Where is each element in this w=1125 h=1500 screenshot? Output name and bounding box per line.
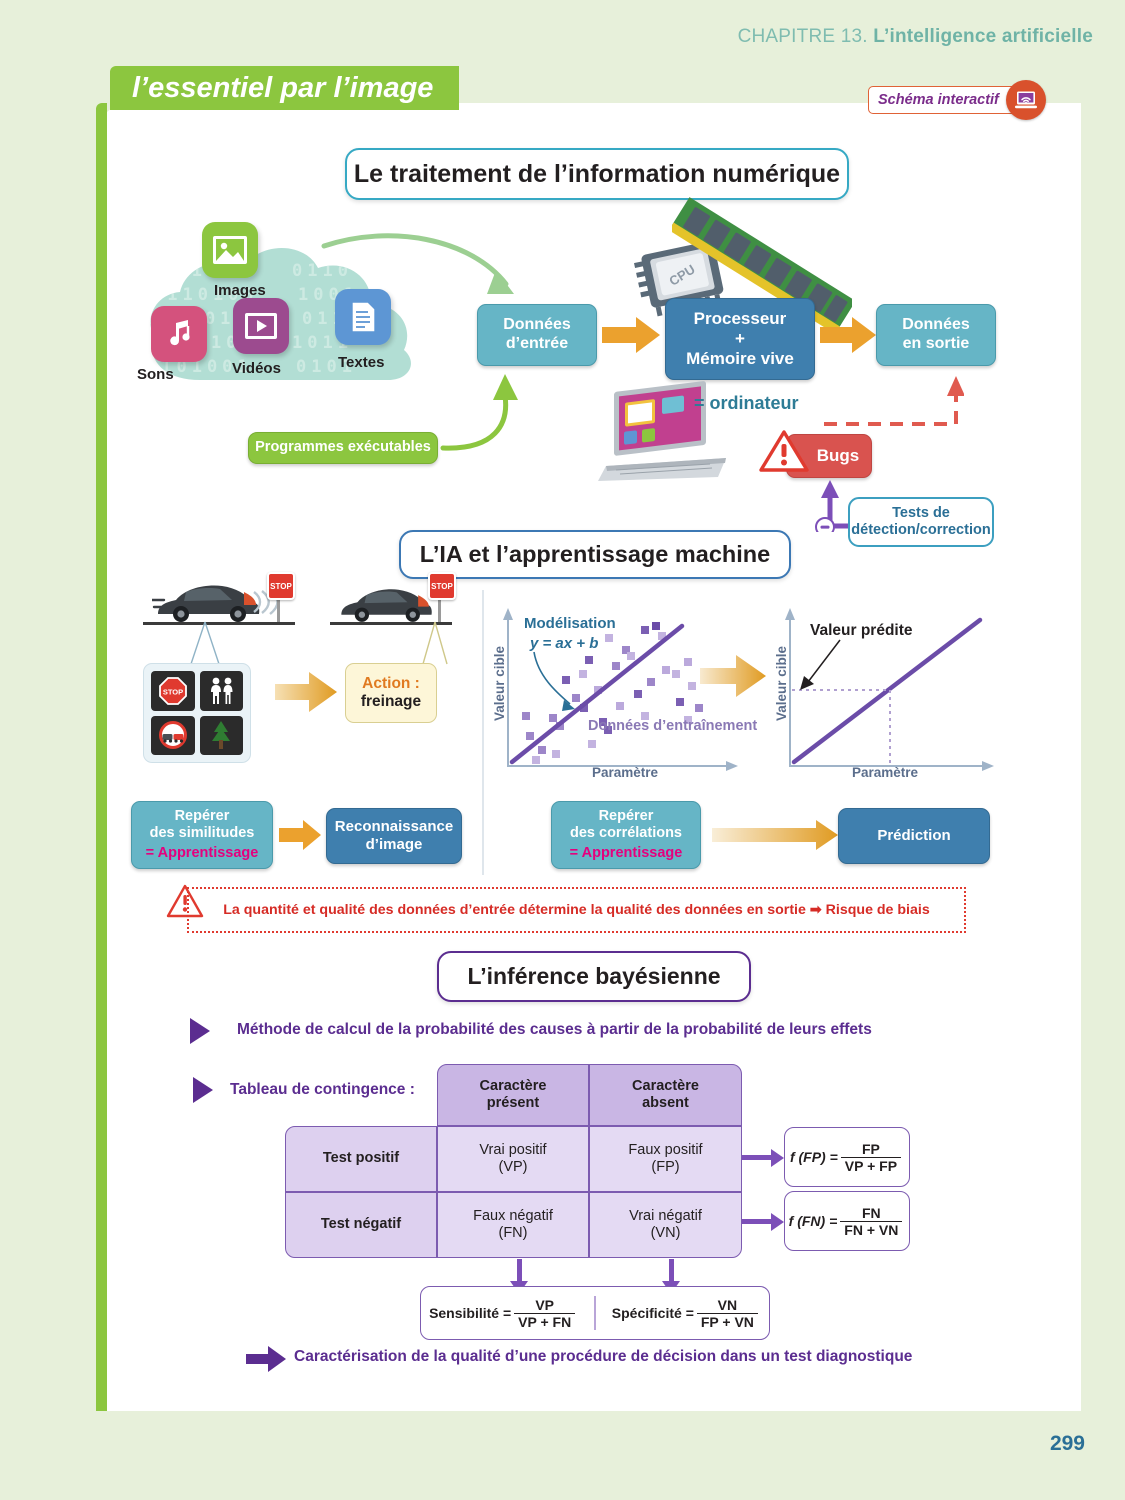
table-cell-vp: Vrai positif (VP)	[437, 1126, 589, 1192]
apprentissage-highlight-1: = Apprentissage	[146, 845, 259, 862]
orange-arrow-1	[602, 317, 660, 353]
chart1-title: Modélisation	[524, 614, 616, 634]
formula-f-fn-den: FN + VN	[840, 1221, 902, 1238]
formula-f-fp-lhs: f (FP) =	[790, 1149, 838, 1165]
section-title-ia: L’IA et l’apprentissage machine	[399, 530, 791, 579]
essentiel-banner: l’essentiel par l’image	[110, 66, 459, 110]
formula-f-fn-fraction: FN FN + VN	[840, 1205, 902, 1238]
bugs-feedback-dashed-arrow	[816, 368, 964, 430]
orange-arrow-4	[712, 820, 838, 850]
section2-divider	[482, 590, 484, 875]
formula-f-fn: f (FN) = FN FN + VN	[784, 1191, 910, 1251]
programmes-label: Programmes exécutables	[255, 439, 431, 456]
formula-f-fn-lhs: f (FN) =	[789, 1213, 838, 1229]
formula-f-fp-fraction: FP VP + FP	[841, 1141, 901, 1174]
table-col-header-1: Caractère présent	[437, 1064, 589, 1126]
bullet-triangle-1	[190, 1018, 210, 1044]
donnees-sortie-box: Données en sortie	[876, 304, 996, 366]
prediction-label: Prédiction	[877, 827, 950, 845]
apprentissage-highlight-2: = Apprentissage	[570, 845, 683, 862]
table-to-ffp-arrow-head	[771, 1149, 784, 1167]
conclusion-arrow-icon	[246, 1346, 286, 1372]
bullet-triangle-2	[193, 1077, 213, 1103]
chapter-header: CHAPITRE 13. L’intelligence artificielle	[738, 26, 1093, 48]
chart1-xlabel: Paramètre	[592, 765, 658, 780]
table-to-ffp-arrow-line	[742, 1155, 772, 1160]
warning-triangle-icon	[758, 428, 810, 474]
formula-sensibilite-den: VP + FN	[514, 1313, 575, 1330]
schema-interactif-badge[interactable]: Schéma interactif	[868, 80, 1046, 120]
orange-arrow-2	[820, 317, 876, 353]
stop-sign-icon: STOP	[151, 671, 195, 711]
formula-sensibilite-num: VP	[531, 1297, 558, 1313]
contingency-table: Caractère présent Caractère absent Test …	[285, 1064, 742, 1259]
tests-label: Tests de détection/correction	[851, 505, 990, 540]
leader-lines	[143, 620, 463, 668]
bugs-label: Bugs	[817, 446, 860, 466]
col1-down-arrow-line	[517, 1259, 522, 1283]
orange-arrow-3	[279, 820, 321, 850]
formula-f-fp-num: FP	[858, 1141, 884, 1157]
green-rail	[96, 103, 107, 1411]
chart2-title: Valeur prédite	[810, 622, 913, 640]
formula-f-fn-num: FN	[858, 1205, 885, 1221]
formula-specificite-num: VN	[714, 1297, 741, 1313]
programmes-executables-box: Programmes exécutables	[248, 432, 438, 464]
action-value: freinage	[361, 693, 421, 711]
reperer-correlations-box: Repérer des corrélations = Apprentissage	[551, 801, 701, 869]
formula-f-fp-den: VP + FP	[841, 1157, 901, 1174]
formula-specificite-lhs: Spécificité =	[612, 1305, 694, 1321]
chapter-title: L’intelligence artificielle	[873, 26, 1093, 47]
chapter-number: CHAPITRE 13.	[738, 26, 868, 47]
chart1-modelisation-label: Modélisation y = ax + b	[524, 614, 616, 653]
table-row-header-1: Test positif	[285, 1126, 437, 1192]
formula-sensibilite-lhs: Sensibilité =	[429, 1305, 511, 1321]
chart1-ylabel: Valeur cible	[492, 646, 507, 721]
table-cell-fn: Faux négatif (FN)	[437, 1192, 589, 1258]
pedestrians-icon	[200, 671, 244, 711]
page-number: 299	[1050, 1432, 1085, 1456]
processeur-label: Processeur + Mémoire vive	[686, 309, 794, 369]
donnees-entree-box: Données d’entrée	[477, 304, 597, 366]
sensitivity-specificity-box: Sensibilité = VP VP + FN Spécificité = V…	[420, 1286, 770, 1340]
table-row-header-2: Test négatif	[285, 1192, 437, 1258]
action-freinage-box: Action : freinage	[345, 663, 437, 723]
orange-arrow-action	[275, 672, 337, 712]
reperer-similitudes-label: Repérer des similitudes	[150, 808, 255, 842]
tree-icon	[200, 716, 244, 756]
reperer-similitudes-box: Repérer des similitudes = Apprentissage	[131, 801, 273, 869]
detection-panel: STOP	[143, 663, 251, 763]
cloud-label-videos: Vidéos	[232, 360, 281, 377]
ordinateur-label: = ordinateur	[694, 393, 799, 414]
section-title-traitement: Le traitement de l’information numérique	[345, 148, 849, 200]
video-play-icon	[233, 298, 289, 354]
chart2-ylabel: Valeur cible	[774, 646, 789, 721]
laptop-wifi-icon	[1006, 80, 1046, 120]
formula-specificite: Spécificité = VN FP + VN	[612, 1297, 761, 1330]
stop-sign-icon-2: STOP	[428, 572, 456, 600]
car-stopped-icon	[336, 584, 436, 624]
prediction-box: Prédiction	[838, 808, 990, 864]
tests-detection-callout: Tests de détection/correction	[848, 497, 994, 547]
section-title-bayes: L’inférence bayésienne	[437, 951, 751, 1002]
warning-text: La quantité et qualité des données d’ent…	[223, 902, 929, 918]
table-cell-vn: Vrai négatif (VN)	[589, 1192, 742, 1258]
bayes-bullet-1: Méthode de calcul de la probabilité des …	[237, 1021, 872, 1039]
car-moving-icon	[152, 580, 264, 624]
table-to-ffn-arrow-line	[742, 1219, 772, 1224]
formula-specificite-fraction: VN FP + VN	[697, 1297, 758, 1330]
chart2-xlabel: Paramètre	[852, 765, 918, 780]
action-label: Action :	[362, 675, 420, 693]
svg-text:STOP: STOP	[163, 687, 183, 696]
programmes-to-input-arrow	[437, 368, 527, 460]
formula-sensibilite-fraction: VP VP + FN	[514, 1297, 575, 1330]
table-to-ffn-arrow-head	[771, 1213, 784, 1231]
reconnaissance-label: Reconnaissance d’image	[335, 818, 453, 853]
table-col-header-2: Caractère absent	[589, 1064, 742, 1126]
chart1-annotation: Données d’entraînement	[588, 718, 757, 734]
processeur-memoire-box: Processeur + Mémoire vive	[665, 298, 815, 380]
schema-interactif-label: Schéma interactif	[868, 86, 1026, 114]
orange-arrow-chart	[700, 655, 766, 697]
cloud-label-sons: Sons	[137, 366, 174, 383]
warning-banner: La quantité et qualité des données d’ent…	[187, 887, 966, 933]
donnees-entree-label: Données d’entrée	[503, 316, 571, 354]
table-cell-fp: Faux positif (FP)	[589, 1126, 742, 1192]
no-overtaking-icon	[151, 716, 195, 756]
stop-sign-icon-1: STOP	[267, 572, 295, 600]
reperer-correlations-label: Repérer des corrélations	[570, 808, 682, 842]
music-note-icon	[151, 306, 207, 362]
col2-down-arrow-line	[669, 1259, 674, 1283]
bayes-conclusion: Caractérisation de la qualité d’une proc…	[294, 1348, 912, 1366]
image-icon	[202, 222, 258, 278]
formula-f-fp: f (FP) = FP VP + FP	[784, 1127, 910, 1187]
cloud-label-textes: Textes	[338, 354, 384, 371]
reconnaissance-image-box: Reconnaissance d’image	[326, 808, 462, 864]
donnees-sortie-label: Données en sortie	[902, 316, 970, 354]
cloud-label-images: Images	[214, 282, 266, 299]
formula-specificite-den: FP + VN	[697, 1313, 758, 1330]
formula-sensibilite: Sensibilité = VP VP + FN	[429, 1297, 578, 1330]
chart1-equation: y = ax + b	[530, 634, 616, 654]
formula-divider	[594, 1296, 595, 1330]
